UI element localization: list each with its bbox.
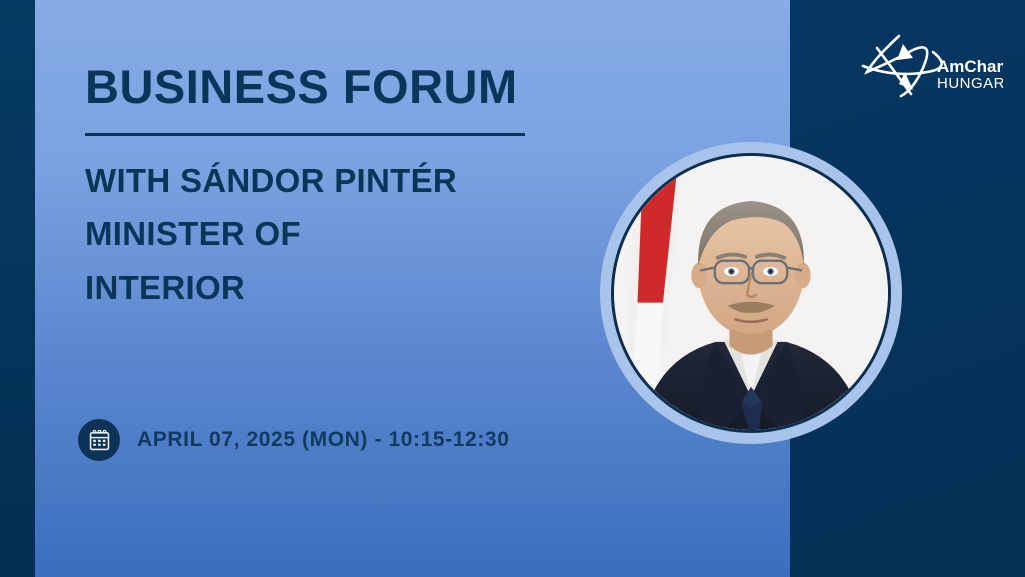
speaker-portrait-frame	[611, 153, 891, 433]
event-subtitle: WITH SÁNDOR PINTÉR MINISTER OF INTERIOR	[85, 154, 605, 314]
headline-block: BUSINESS FORUM WITH SÁNDOR PINTÉR MINIST…	[85, 62, 605, 314]
amcham-hungary-logo: AmCham HUNGARY	[861, 28, 1003, 102]
page-title: BUSINESS FORUM	[85, 62, 605, 112]
subtitle-line-2: MINISTER OF	[85, 207, 605, 260]
calendar-icon	[78, 419, 120, 461]
logo-brand-name: AmCham	[937, 57, 1003, 76]
title-divider	[85, 133, 525, 136]
event-banner: BUSINESS FORUM WITH SÁNDOR PINTÉR MINIST…	[0, 0, 1025, 577]
event-date-label: APRIL 07, 2025 (MON) - 10:15-12:30	[137, 428, 510, 452]
logo-country-name: HUNGARY	[937, 75, 1003, 92]
speaker-portrait	[600, 142, 902, 444]
event-datetime: APRIL 07, 2025 (MON) - 10:15-12:30	[78, 419, 510, 461]
speaker-photo	[614, 156, 888, 430]
subtitle-line-1: WITH SÁNDOR PINTÉR	[85, 154, 605, 207]
background-left-stripe	[0, 0, 35, 577]
amcham-star-icon	[863, 36, 942, 96]
subtitle-line-3: INTERIOR	[85, 261, 605, 314]
